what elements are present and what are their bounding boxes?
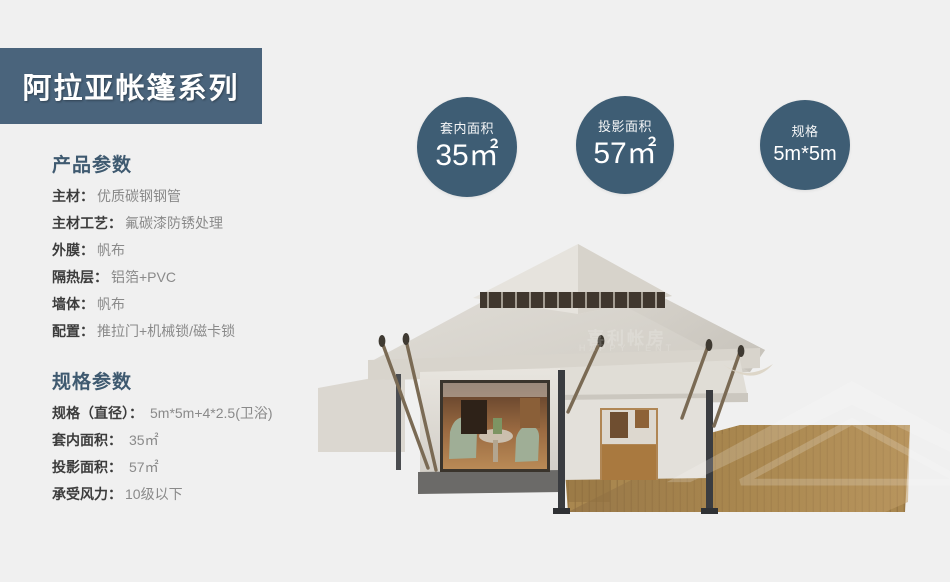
stat-badge-interior-area: 套内面积 35㎡ bbox=[417, 97, 517, 197]
list-item: 配置： 推拉门+机械锁/磁卡锁 bbox=[52, 318, 330, 345]
badge-value: 57㎡ bbox=[593, 137, 656, 171]
spec-params-list: 规格（直径）： 5m*5m+4*2.5(卫浴) 套内面积： 35㎡ 投影面积： … bbox=[0, 400, 330, 508]
list-item: 外膜： 帆布 bbox=[52, 237, 330, 264]
row-label: 配置： bbox=[52, 322, 94, 341]
badge-value: 35㎡ bbox=[435, 139, 498, 173]
badge-value: 5m*5m bbox=[773, 142, 836, 166]
slide-canvas: 阿拉亚帐篷系列 产品参数 主材： 优质碳钢钢管 主材工艺： 氟碳漆防锈处理 外膜… bbox=[0, 0, 950, 534]
row-label: 墙体： bbox=[52, 295, 94, 314]
list-item: 承受风力： 10级以下 bbox=[52, 481, 330, 508]
row-value: 57㎡ bbox=[129, 458, 159, 477]
row-label: 规格（直径）： bbox=[52, 404, 143, 423]
badge-label: 投影面积 bbox=[598, 119, 652, 135]
row-label: 投影面积： bbox=[52, 458, 122, 477]
row-value: 铝箔+PVC bbox=[111, 268, 176, 287]
stat-badge-group: 套内面积 35㎡ 投影面积 57㎡ 规格 5m*5m bbox=[0, 0, 950, 230]
row-value: 10级以下 bbox=[125, 485, 183, 504]
row-label: 承受风力： bbox=[52, 485, 122, 504]
row-label: 套内面积： bbox=[52, 431, 122, 450]
list-item: 隔热层： 铝箔+PVC bbox=[52, 264, 330, 291]
tent-render-image: 喜利帐房 HAPPY TENT bbox=[310, 240, 950, 534]
row-value: 帆布 bbox=[97, 241, 125, 260]
row-label: 外膜： bbox=[52, 241, 94, 260]
row-value: 5m*5m+4*2.5(卫浴) bbox=[150, 404, 273, 423]
list-item: 规格（直径）： 5m*5m+4*2.5(卫浴) bbox=[52, 400, 330, 427]
row-label: 隔热层： bbox=[52, 268, 108, 287]
row-value: 帆布 bbox=[97, 295, 125, 314]
row-value: 35㎡ bbox=[129, 431, 159, 450]
list-item: 套内面积： 35㎡ bbox=[52, 427, 330, 454]
tent-illustration bbox=[310, 240, 950, 534]
list-item: 墙体： 帆布 bbox=[52, 291, 330, 318]
badge-label: 套内面积 bbox=[440, 121, 494, 137]
badge-unit: ㎡ bbox=[627, 137, 657, 170]
badge-unit: ㎡ bbox=[469, 139, 499, 172]
list-item: 投影面积： 57㎡ bbox=[52, 454, 330, 481]
stat-badge-dimensions: 规格 5m*5m bbox=[760, 100, 850, 190]
row-value: 推拉门+机械锁/磁卡锁 bbox=[97, 322, 235, 341]
stat-badge-projected-area: 投影面积 57㎡ bbox=[576, 96, 674, 194]
spec-params-heading: 规格参数 bbox=[52, 367, 330, 394]
badge-label: 规格 bbox=[791, 124, 818, 140]
